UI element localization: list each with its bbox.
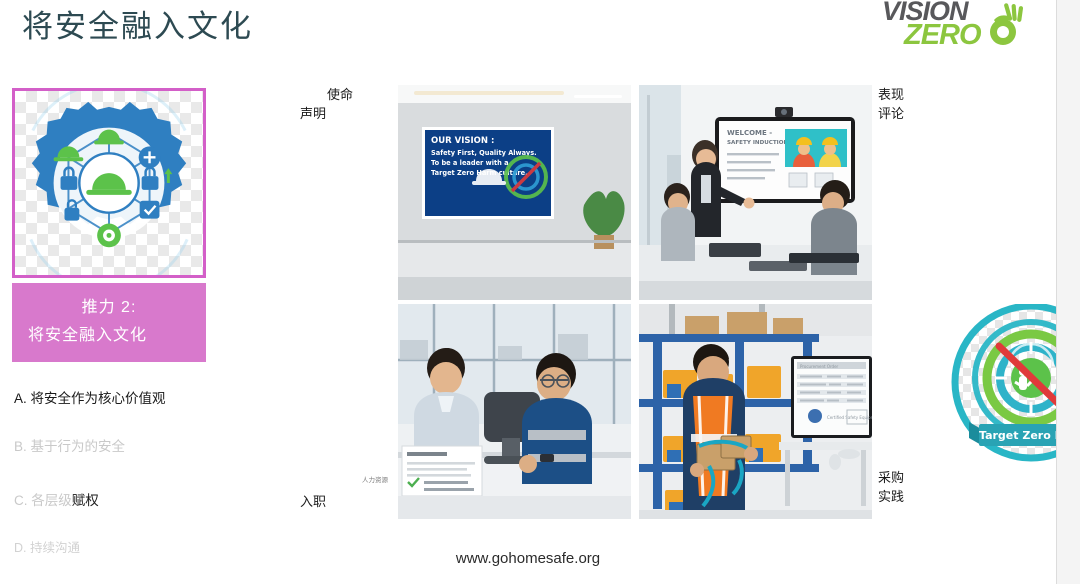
page-title: 将安全融入文化 (22, 8, 253, 47)
label-hr-micro: 人力资源 (362, 474, 388, 484)
label-procurement-line1: 采购 (878, 469, 904, 488)
logo-word-zero: ZERO (904, 19, 981, 52)
photo-performance-review (398, 304, 631, 519)
photo-grid: OUR VISION : Safety First, Quality Alway… (398, 85, 872, 519)
label-procurement-line2: 实践 (878, 488, 904, 507)
label-review-line1: 表现 (878, 86, 904, 105)
option-b[interactable]: B. 基于行为的安全 (14, 435, 125, 455)
svg-text:Procurement Order: Procurement Order (800, 364, 839, 369)
label-mission-line1: 使命 (300, 86, 380, 105)
badge-banner-text: Target Zero Falls (979, 429, 1056, 442)
ok-hand-icon (986, 2, 1028, 48)
vision-zero-logo: VISION ZERO (876, 0, 1026, 58)
option-c-emphasis: 赋权 (72, 493, 99, 508)
photo-vision-video-wall: OUR VISION : Safety First, Quality Alway… (398, 85, 631, 300)
option-c[interactable]: C. 各层级赋权 (14, 489, 99, 509)
option-c-prefix: C. 各层级 (14, 493, 72, 508)
slide-canvas: 将安全融入文化 VISION ZERO (0, 0, 1056, 584)
label-onboarding: 入职 (300, 493, 326, 512)
driver-number-label: 推力 2: (12, 293, 206, 317)
driver-caption-box: 推力 2: 将安全融入文化 (12, 283, 206, 362)
driver-title-label: 将安全融入文化 (28, 321, 147, 345)
label-performance-review: 表现 评论 (878, 86, 904, 124)
svg-text:SAFETY INDUCTION: SAFETY INDUCTION (727, 140, 789, 146)
svg-text:Certified Safety Equipment: Certified Safety Equipment (827, 415, 872, 420)
label-review-line2: 评论 (878, 105, 904, 124)
svg-text:OUR VISION :: OUR VISION : (431, 136, 494, 146)
photo-safety-induction: WELCOME - SAFETY INDUCTION (639, 85, 872, 300)
photo-procurement-warehouse: Procurement Order Certified Safety Equip… (639, 304, 872, 519)
label-procurement-practices: 采购 实践 (878, 469, 904, 507)
target-zero-falls-badge: Target Zero Falls (947, 304, 1056, 466)
footer-url[interactable]: www.gohomesafe.org (0, 550, 1056, 567)
right-gutter (1056, 0, 1080, 584)
label-mission-line2: 声明 (300, 105, 380, 124)
svg-text:WELCOME -: WELCOME - (727, 129, 772, 137)
gear-safety-network-icon (15, 91, 203, 275)
option-a[interactable]: A. 将安全作为核心价值观 (14, 387, 166, 407)
label-mission-statement: 使命 声明 (300, 86, 380, 124)
svg-text:To be a leader with a: To be a leader with a (431, 159, 509, 167)
driver-thumbnail[interactable] (12, 88, 206, 278)
